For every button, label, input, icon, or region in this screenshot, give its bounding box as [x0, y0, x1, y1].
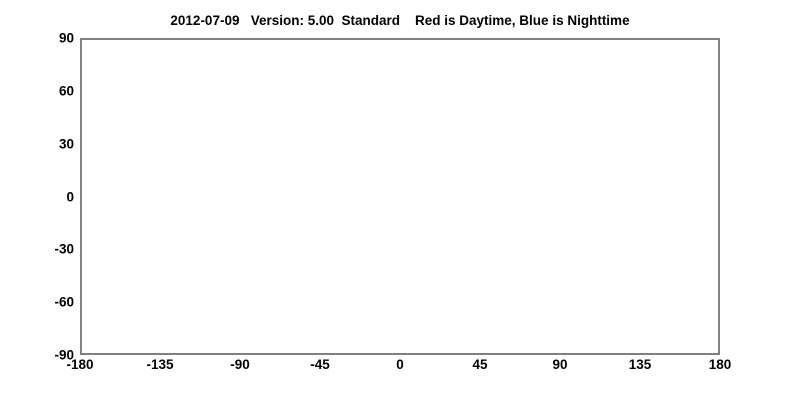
ground-track-figure: 2012-07-09 Version: 5.00 Standard Red is… [0, 0, 800, 400]
y-tick-label: 90 [4, 31, 74, 46]
plot-area [80, 38, 720, 355]
y-tick-label: -30 [4, 242, 74, 257]
x-tick-label: 180 [680, 357, 760, 372]
x-tick-label: -45 [280, 357, 360, 372]
x-tick-label: 0 [360, 357, 440, 372]
x-tick-label: 90 [520, 357, 600, 372]
x-tick-label: 45 [440, 357, 520, 372]
x-tick-label: -180 [40, 357, 120, 372]
figure-title: 2012-07-09 Version: 5.00 Standard Red is… [0, 13, 800, 28]
x-axis-tick-labels: -180-135-90-4504590135180 [80, 357, 720, 381]
y-tick-label: 30 [4, 136, 74, 151]
y-axis-tick-labels: 9060300-30-60-90 [0, 38, 74, 355]
x-tick-label: -135 [120, 357, 200, 372]
y-tick-label: 60 [4, 83, 74, 98]
plot-frame-border [80, 38, 720, 355]
x-tick-label: -90 [200, 357, 280, 372]
y-tick-label: -60 [4, 295, 74, 310]
x-tick-label: 135 [600, 357, 680, 372]
y-tick-label: 0 [4, 189, 74, 204]
